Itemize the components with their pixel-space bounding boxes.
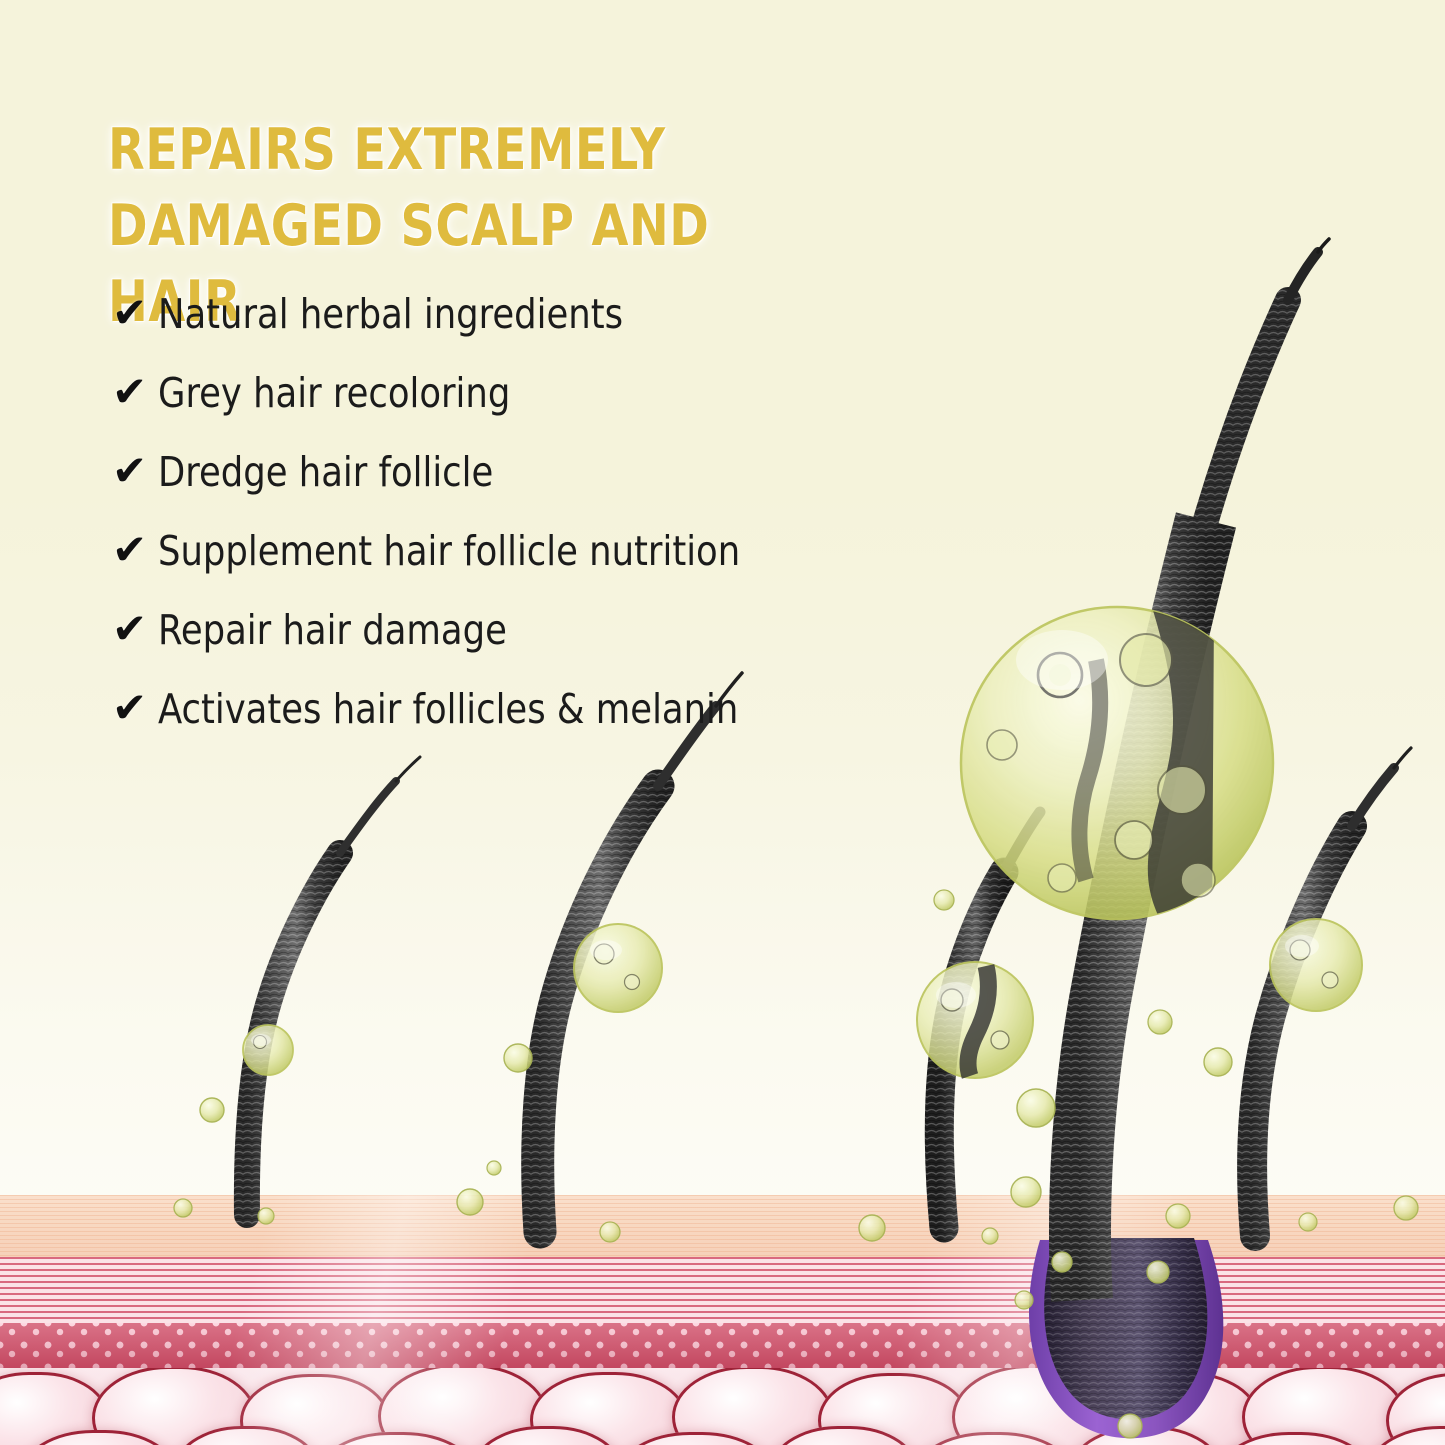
serum-bubble-medium-left	[917, 962, 1033, 1078]
check-icon: ✔	[112, 685, 158, 731]
serum-microbubbles	[174, 890, 1418, 1438]
serum-bubble-left	[243, 1025, 293, 1075]
check-icon: ✔	[112, 448, 158, 494]
serum-bubble-middle	[574, 924, 662, 1012]
benefit-label: Dredge hair follicle	[158, 448, 493, 496]
list-item: ✔ Grey hair recoloring	[112, 369, 902, 448]
check-icon: ✔	[112, 290, 158, 336]
hair-strand-left	[247, 757, 420, 1215]
product-benefit-poster: REPAIRS EXTREMELY DAMAGED SCALP AND HAIR…	[0, 0, 1445, 1445]
check-icon: ✔	[112, 369, 158, 415]
check-icon: ✔	[112, 606, 158, 652]
list-item: ✔ Activates hair follicles & melanin	[112, 685, 902, 764]
benefits-list: ✔ Natural herbal ingredients ✔ Grey hair…	[112, 290, 902, 764]
benefit-label: Grey hair recoloring	[158, 369, 510, 417]
list-item: ✔ Natural herbal ingredients	[112, 290, 902, 369]
serum-bubble-right	[1270, 919, 1362, 1011]
list-item: ✔ Repair hair damage	[112, 606, 902, 685]
list-item: ✔ Supplement hair follicle nutrition	[112, 527, 902, 606]
benefit-label: Repair hair damage	[158, 606, 507, 654]
list-item: ✔ Dredge hair follicle	[112, 448, 902, 527]
benefit-label: Activates hair follicles & melanin	[158, 685, 738, 733]
benefit-label: Supplement hair follicle nutrition	[158, 527, 740, 575]
benefit-label: Natural herbal ingredients	[158, 290, 623, 338]
check-icon: ✔	[112, 527, 158, 573]
